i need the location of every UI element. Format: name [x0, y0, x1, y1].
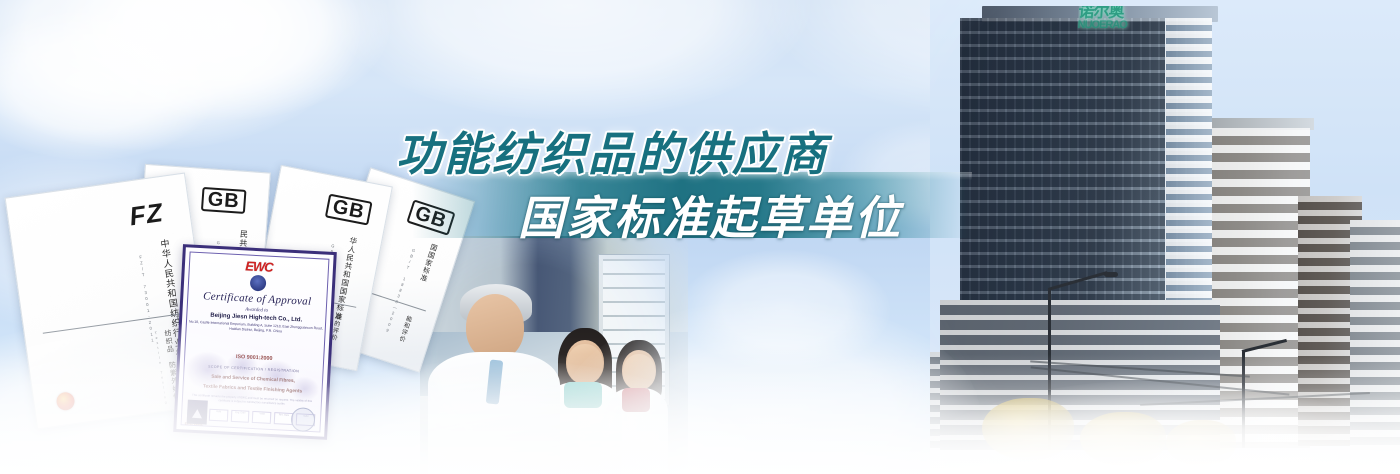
gb-code-label: GB	[201, 187, 247, 214]
certificate-date-cell: Valid	[252, 411, 271, 424]
fz-code-label: FZ	[128, 197, 166, 232]
cloud-decoration	[680, 250, 890, 370]
standards-documents-group: GB 国国家标准 GB/T 18830—2009 能和评价 GB 华人民共和国国…	[10, 160, 450, 450]
ewc-certificate: EWC Certificate of Approval Awarded to B…	[173, 244, 337, 440]
rooftop-sign-line2: NUOERAO	[1077, 19, 1140, 32]
researcher-right-inner-top	[622, 388, 650, 412]
doc-seal-icon	[55, 391, 75, 411]
gb-title-vertical: 华人民共和国国家标准	[332, 236, 359, 322]
researcher-center-inner-top	[564, 382, 602, 408]
gb-subtitle-vertical: 能和评价	[396, 314, 413, 343]
accreditation-mark-icon	[187, 400, 208, 425]
researcher-right-face	[623, 354, 655, 390]
rooftop-sign-line1: 诺尔奥	[1078, 6, 1141, 19]
researcher-center-face	[567, 344, 603, 384]
cloud-decoration	[60, 0, 390, 120]
cloud-decoration	[0, 10, 220, 160]
street-lamp-head	[1104, 272, 1118, 277]
headline-teal-band	[412, 172, 972, 238]
cloud-decoration	[330, 0, 810, 120]
rooftop-sign: 诺尔奥 NUOERAO	[1077, 6, 1141, 32]
certificate-date-cell: Valid	[209, 409, 228, 422]
senior-researcher-head	[466, 294, 524, 360]
certificate-date-cell: Exp. Date	[230, 410, 249, 423]
cloud-decoration	[0, 0, 360, 150]
promotional-banner: 诺尔奥 NUOERAO	[0, 0, 1400, 474]
photo-bottom-fade	[930, 388, 1400, 474]
office-towers-photo: 诺尔奥 NUOERAO	[930, 0, 1400, 474]
gb-code-label: GB	[325, 194, 373, 226]
researchers-lab-photo	[420, 236, 688, 474]
gb-title-vertical: 国国家标准	[417, 242, 439, 283]
